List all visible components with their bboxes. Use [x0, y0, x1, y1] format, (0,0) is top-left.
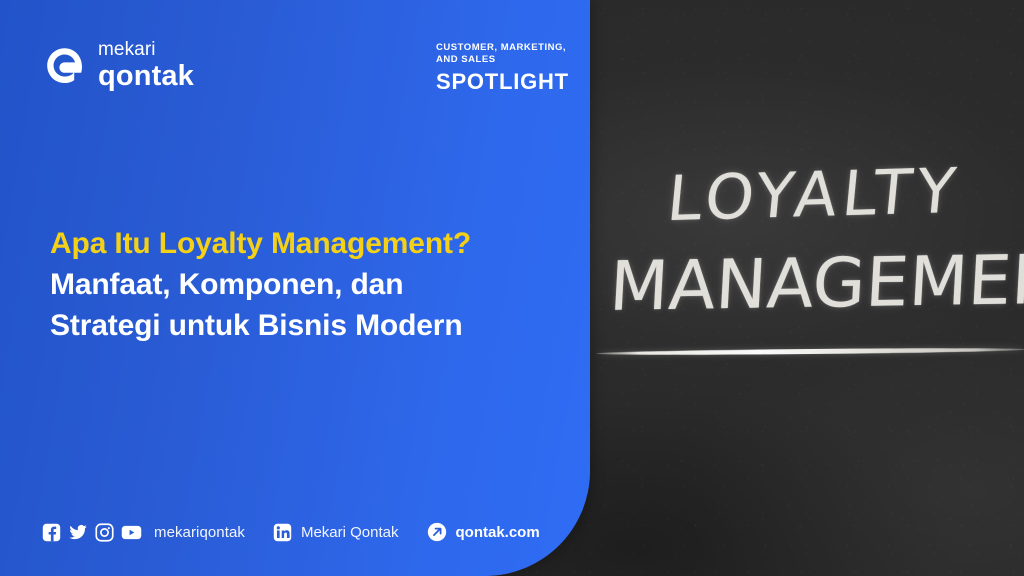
arrow-up-right-circle-icon[interactable] — [427, 522, 447, 542]
spotlight-kicker-line2: AND SALES — [436, 54, 569, 66]
chalk-title-line2: MANAGEMENT — [608, 240, 1024, 327]
spotlight-kicker-line1: CUSTOMER, MARKETING, — [436, 42, 569, 54]
footer-linkedin-group: Mekari Qontak — [273, 523, 399, 542]
logo-brand-top: mekari — [98, 40, 194, 59]
social-icon-list — [42, 523, 142, 542]
headline-line3: Strategi untuk Bisnis Modern — [50, 306, 560, 347]
headline-line2: Manfaat, Komponen, dan — [50, 265, 560, 306]
logo-brand-bottom: qontak — [98, 62, 194, 91]
promo-banner: LOYALTY MANAGEMENT mekari qontak CUSTOME… — [0, 0, 1024, 576]
website-url[interactable]: qontak.com — [456, 524, 540, 541]
facebook-icon[interactable] — [42, 523, 61, 542]
youtube-icon[interactable] — [121, 523, 142, 542]
headline-line1: Apa Itu Loyalty Management? — [50, 224, 560, 265]
spotlight-word-part2: TLIGHT — [485, 69, 569, 95]
logo-wordmark: mekari qontak — [98, 40, 194, 91]
mekari-qontak-logo[interactable]: mekari qontak — [44, 40, 194, 91]
linkedin-icon[interactable] — [273, 523, 292, 542]
mekari-qontak-logo-icon — [44, 45, 84, 87]
linkedin-handle[interactable]: Mekari Qontak — [301, 524, 399, 541]
spotlight-o-dot-icon: O — [467, 69, 485, 95]
spotlight-lockup: CUSTOMER, MARKETING, AND SALES SP O TLIG… — [436, 42, 569, 95]
footer-website-group[interactable]: qontak.com — [427, 522, 540, 542]
chalk-title-line1: LOYALTY — [664, 154, 964, 235]
headline: Apa Itu Loyalty Management? Manfaat, Kom… — [50, 224, 560, 346]
footer-social-group: mekariqontak — [42, 523, 245, 542]
footer-social-bar: mekariqontak Mekari Qontak qontak.com — [42, 522, 540, 542]
social-handle[interactable]: mekariqontak — [154, 524, 245, 541]
twitter-icon[interactable] — [68, 523, 88, 542]
spotlight-wordmark: SP O TLIGHT — [436, 69, 569, 95]
spotlight-word-part1: SP — [436, 69, 467, 95]
instagram-icon[interactable] — [95, 523, 114, 542]
spotlight-kicker: CUSTOMER, MARKETING, AND SALES — [436, 42, 569, 66]
